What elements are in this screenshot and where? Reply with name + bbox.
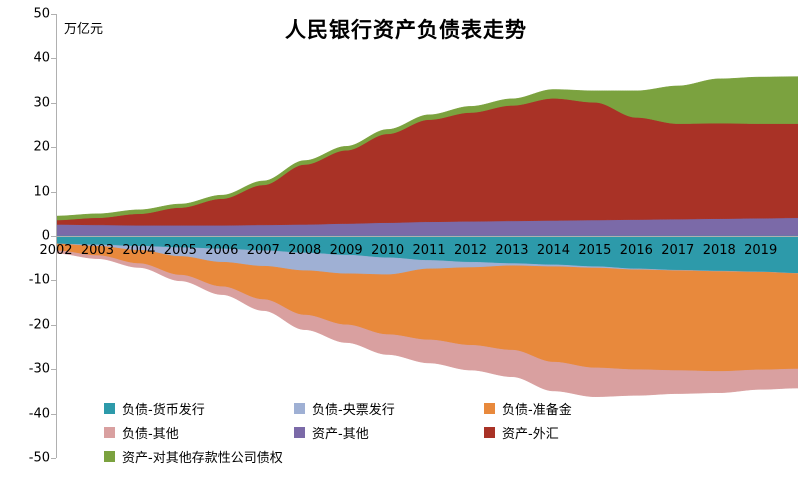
y-axis-tick-label: 30 [33, 96, 50, 109]
legend-item[interactable]: 负债-央票发行 [294, 396, 484, 420]
x-axis-tick-label: 2018 [703, 244, 736, 257]
legend-item[interactable]: 负债-准备金 [484, 396, 674, 420]
x-axis-tick-label: 2011 [413, 244, 446, 257]
y-axis-tick-label: -40 [29, 407, 50, 420]
x-axis-tick-label: 2013 [495, 244, 528, 257]
legend-item[interactable]: 负债-货币发行 [104, 396, 294, 420]
legend-swatch-icon [484, 403, 495, 414]
y-axis-tick-mark [51, 458, 56, 459]
legend-swatch-icon [294, 427, 305, 438]
y-axis-tick-label: -20 [29, 318, 50, 331]
plot-area: 50403020100-10-20-30-40-50 2002200320042… [56, 14, 798, 458]
x-axis-tick-label: 2005 [164, 244, 197, 257]
y-axis-tick-label: 20 [33, 141, 50, 154]
legend-label: 资产-对其他存款性公司债权 [122, 447, 283, 466]
legend-item[interactable]: 资产-对其他存款性公司债权 [104, 444, 294, 468]
x-axis-tick-label: 2008 [288, 244, 321, 257]
x-axis-tick-label: 2010 [371, 244, 404, 257]
legend-item[interactable]: 资产-其他 [294, 420, 484, 444]
x-axis-tick-label: 2007 [247, 244, 280, 257]
y-axis-tick-label: 40 [33, 52, 50, 65]
legend-label: 资产-外汇 [502, 423, 559, 442]
x-axis-tick-label: 2015 [578, 244, 611, 257]
y-axis-tick-label: 10 [33, 185, 50, 198]
x-axis-tick-label: 2003 [81, 244, 114, 257]
legend-item[interactable]: 负债-其他 [104, 420, 294, 444]
y-axis-tick-label: 0 [42, 230, 50, 243]
x-axis-tick-label: 2002 [39, 244, 72, 257]
x-axis-tick-label: 2017 [661, 244, 694, 257]
legend-label: 负债-准备金 [502, 399, 572, 418]
chart-legend: 负债-货币发行负债-央票发行负债-准备金负债-其他资产-其他资产-外汇资产-对其… [104, 396, 704, 468]
y-axis-tick-label: 50 [33, 8, 50, 21]
legend-swatch-icon [104, 427, 115, 438]
x-axis-line [56, 236, 798, 237]
x-axis-tick-label: 2016 [620, 244, 653, 257]
x-axis-tick-label: 2014 [537, 244, 570, 257]
legend-item[interactable]: 资产-外汇 [484, 420, 674, 444]
legend-swatch-icon [104, 403, 115, 414]
legend-label: 负债-其他 [122, 423, 179, 442]
legend-label: 资产-其他 [312, 423, 369, 442]
chart-container: 人民银行资产负债表走势 万亿元 50403020100-10-20-30-40-… [0, 0, 812, 483]
x-axis-tick-label: 2004 [122, 244, 155, 257]
x-axis-tick-label: 2009 [330, 244, 363, 257]
y-axis-tick-label: -30 [29, 363, 50, 376]
legend-swatch-icon [484, 427, 495, 438]
y-axis-tick-label: -10 [29, 274, 50, 287]
legend-label: 负债-货币发行 [122, 399, 205, 418]
legend-label: 负债-央票发行 [312, 399, 395, 418]
x-axis-tick-label: 2019 [744, 244, 777, 257]
legend-swatch-icon [104, 451, 115, 462]
x-axis-tick-label: 2006 [205, 244, 238, 257]
legend-swatch-icon [294, 403, 305, 414]
x-axis-tick-label: 2012 [454, 244, 487, 257]
y-axis-tick-label: -50 [29, 452, 50, 465]
